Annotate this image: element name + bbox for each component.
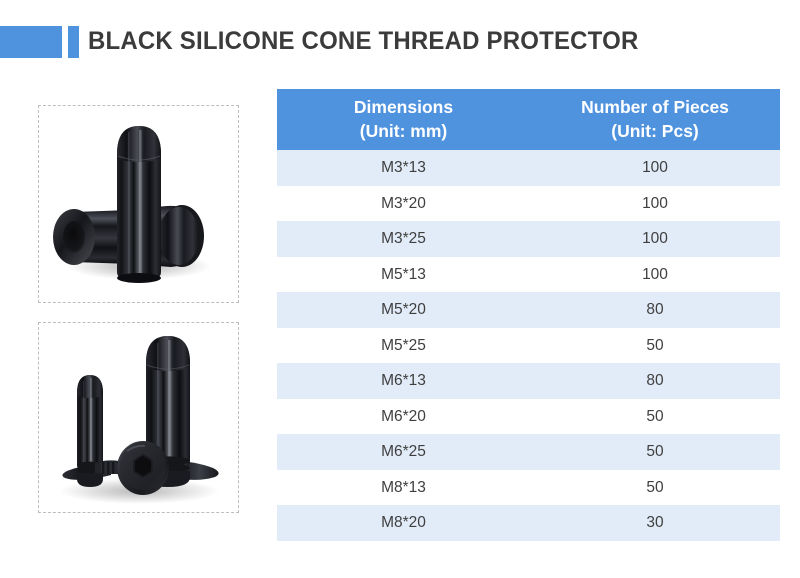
cell-pieces: 100 bbox=[530, 221, 780, 257]
table-row: M3*13100 bbox=[277, 150, 780, 186]
cell-dimension: M6*20 bbox=[277, 399, 530, 435]
cell-dimension: M5*25 bbox=[277, 328, 530, 364]
table-row: M5*13100 bbox=[277, 257, 780, 293]
specification-table: Dimensions (Unit: mm) Number of Pieces (… bbox=[277, 89, 780, 541]
table-row: M8*2030 bbox=[277, 505, 780, 541]
cell-pieces: 100 bbox=[530, 186, 780, 222]
table-head: Dimensions (Unit: mm) Number of Pieces (… bbox=[277, 89, 780, 150]
cell-pieces: 50 bbox=[530, 470, 780, 506]
table-row: M8*1350 bbox=[277, 470, 780, 506]
table-header-row: Dimensions (Unit: mm) Number of Pieces (… bbox=[277, 89, 780, 150]
page-header: BLACK SILICONE CONE THREAD PROTECTOR bbox=[0, 26, 800, 58]
cell-pieces: 80 bbox=[530, 363, 780, 399]
cell-dimension: M8*13 bbox=[277, 470, 530, 506]
column-header-pieces-line1: Number of Pieces bbox=[530, 96, 780, 120]
cell-pieces: 50 bbox=[530, 328, 780, 364]
product-photo-frame-2 bbox=[38, 322, 239, 513]
cell-pieces: 100 bbox=[530, 257, 780, 293]
cell-dimension: M5*13 bbox=[277, 257, 530, 293]
column-header-dimensions-line1: Dimensions bbox=[277, 96, 530, 120]
table-row: M6*2050 bbox=[277, 399, 780, 435]
table-row: M6*1380 bbox=[277, 363, 780, 399]
cell-dimension: M5*20 bbox=[277, 292, 530, 328]
header-accent-bar-wide bbox=[0, 26, 62, 58]
header-accent-bar-narrow bbox=[68, 26, 79, 58]
table-row: M5*2080 bbox=[277, 292, 780, 328]
column-header-pieces: Number of Pieces (Unit: Pcs) bbox=[530, 89, 780, 150]
column-header-dimensions-line2: (Unit: mm) bbox=[277, 120, 530, 144]
cell-dimension: M6*13 bbox=[277, 363, 530, 399]
cell-pieces: 80 bbox=[530, 292, 780, 328]
cell-dimension: M3*13 bbox=[277, 150, 530, 186]
column-header-dimensions: Dimensions (Unit: mm) bbox=[277, 89, 530, 150]
cell-pieces: 30 bbox=[530, 505, 780, 541]
page-title: BLACK SILICONE CONE THREAD PROTECTOR bbox=[88, 25, 639, 57]
column-header-pieces-line2: (Unit: Pcs) bbox=[530, 120, 780, 144]
cell-pieces: 50 bbox=[530, 434, 780, 470]
table-row: M3*20100 bbox=[277, 186, 780, 222]
cone-thread-protector-on-bolts-photo bbox=[39, 323, 238, 512]
upright-protector bbox=[117, 126, 161, 283]
cell-pieces: 100 bbox=[530, 150, 780, 186]
cell-dimension: M6*25 bbox=[277, 434, 530, 470]
table-body: M3*13100 M3*20100 M3*25100 M5*13100 M5*2… bbox=[277, 150, 780, 541]
product-photo-frame-1 bbox=[38, 105, 239, 303]
cell-dimension: M8*20 bbox=[277, 505, 530, 541]
table-row: M6*2550 bbox=[277, 434, 780, 470]
cone-thread-protector-pair-photo bbox=[39, 106, 238, 302]
cell-pieces: 50 bbox=[530, 399, 780, 435]
table-row: M5*2550 bbox=[277, 328, 780, 364]
cell-dimension: M3*20 bbox=[277, 186, 530, 222]
table-row: M3*25100 bbox=[277, 221, 780, 257]
cell-dimension: M3*25 bbox=[277, 221, 530, 257]
